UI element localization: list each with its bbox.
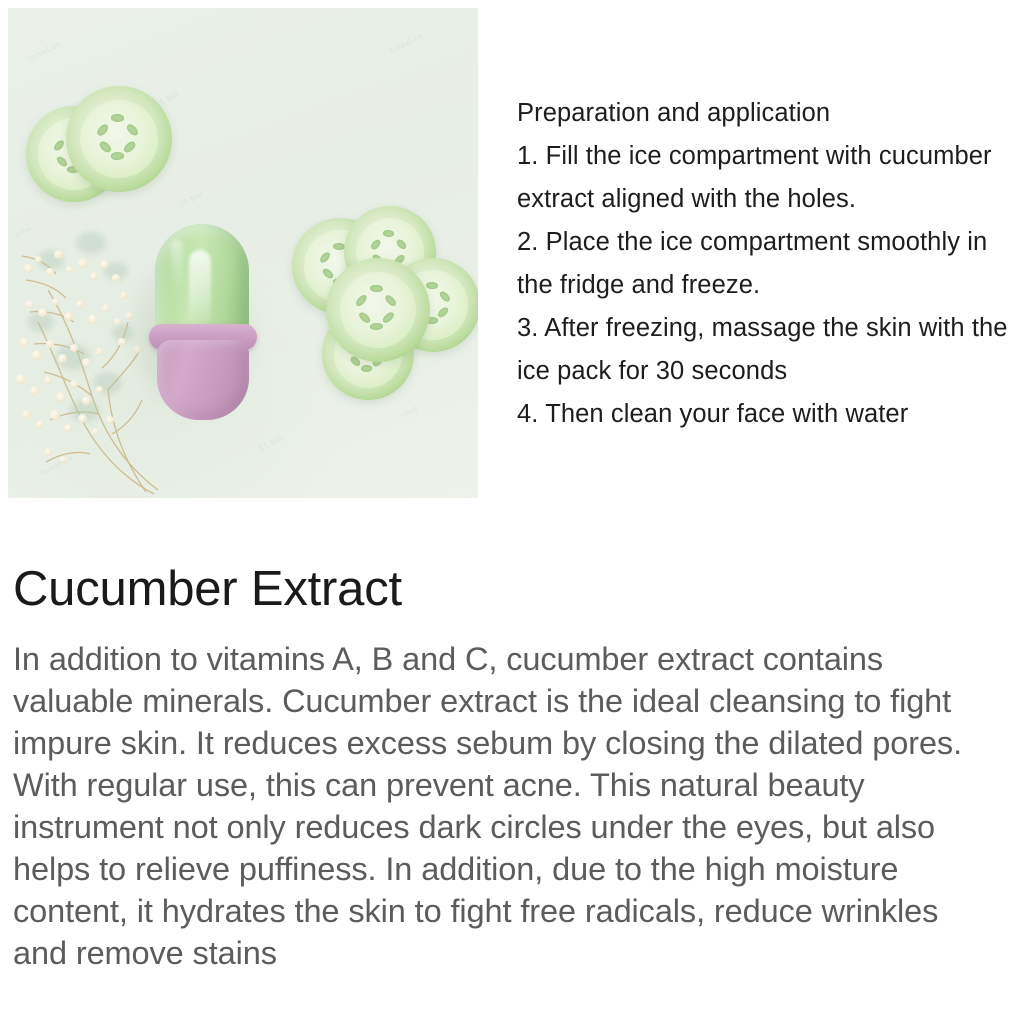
- watermark: loreal.za: [388, 30, 425, 56]
- preparation-instructions: Preparation and application 1. Fill the …: [517, 92, 1022, 436]
- flower-bud: [102, 304, 110, 312]
- instruction-line: extract aligned with the holes.: [517, 178, 1022, 221]
- flower-bud: [112, 274, 120, 282]
- watermark: ssna: [399, 402, 420, 419]
- flower-bud: [46, 268, 54, 276]
- flower-bud: [82, 396, 91, 405]
- cucumber-slice: [326, 258, 430, 362]
- cucumber-ice-roller: [149, 224, 257, 406]
- flower-bud: [38, 308, 47, 317]
- instruction-line: ice pack for 30 seconds: [517, 350, 1022, 393]
- flower-bud: [66, 266, 73, 273]
- flower-bud: [82, 358, 91, 367]
- flower-bud: [26, 300, 34, 308]
- flower-bud: [100, 260, 109, 269]
- watermark: 11 hni: [257, 432, 285, 453]
- flower-bud: [64, 312, 73, 321]
- instruction-line: 3. After freezing, massage the skin with…: [517, 307, 1022, 350]
- flower-bud: [88, 314, 98, 324]
- flower-bud: [114, 318, 121, 325]
- cucumber-slice: [66, 86, 172, 192]
- flower-bud: [60, 456, 67, 463]
- instruction-line: 2. Place the ice compartment smoothly in: [517, 221, 1022, 264]
- flower-bud: [35, 256, 42, 263]
- cucumber-seeds: [353, 285, 403, 335]
- instruction-line: 1. Fill the ice compartment with cucumbe…: [517, 135, 1022, 178]
- top-section: loreal.za 11 hni ssna 11 hni loreal.za 1…: [0, 0, 1024, 510]
- section-body-text: In addition to vitamins A, B and C, cucu…: [13, 638, 975, 974]
- flower-bud: [78, 258, 88, 268]
- watermark: loreal.za: [26, 38, 63, 64]
- flower-bud: [22, 410, 31, 419]
- flower-bud: [64, 424, 72, 432]
- flower-bud: [90, 272, 98, 280]
- ice-highlight: [171, 240, 183, 294]
- flower-bud: [24, 264, 33, 273]
- flower-bud: [76, 300, 84, 308]
- flower-bud: [96, 386, 103, 393]
- flower-bud: [58, 354, 67, 363]
- flower-bud: [106, 416, 114, 424]
- flower-bud: [52, 298, 59, 305]
- product-photo: loreal.za 11 hni ssna 11 hni loreal.za 1…: [8, 8, 478, 498]
- silicone-holder: [157, 340, 249, 420]
- flower-bud: [44, 376, 52, 384]
- instructions-title: Preparation and application: [517, 92, 1022, 135]
- flower-bud: [126, 312, 133, 319]
- section-heading: Cucumber Extract: [13, 560, 402, 618]
- cucumber-seeds: [94, 114, 145, 165]
- flower-bud: [92, 428, 99, 435]
- instruction-line: 4. Then clean your face with water: [517, 393, 1022, 436]
- flower-bud: [30, 386, 39, 395]
- flower-bud: [78, 414, 87, 423]
- flower-bud: [56, 392, 66, 402]
- flower-bud: [36, 420, 44, 428]
- flower-bud: [118, 338, 126, 346]
- flower-bud: [44, 448, 52, 456]
- flower-bud: [32, 350, 42, 360]
- flower-bud: [54, 250, 63, 259]
- flower-bud: [70, 380, 78, 388]
- flower-bud: [20, 338, 29, 347]
- flower-bud: [16, 374, 26, 384]
- product-description-page: loreal.za 11 hni ssna 11 hni loreal.za 1…: [0, 0, 1024, 1024]
- flower-bud: [96, 348, 103, 355]
- watermark: 11 hni: [177, 188, 205, 209]
- instruction-line: the fridge and freeze.: [517, 264, 1022, 307]
- flower-bud: [120, 292, 127, 299]
- ice-highlight: [189, 250, 211, 332]
- sprig-blur: [76, 232, 106, 254]
- flower-bud: [50, 410, 60, 420]
- flower-bud: [46, 340, 54, 348]
- flower-bud: [70, 344, 78, 352]
